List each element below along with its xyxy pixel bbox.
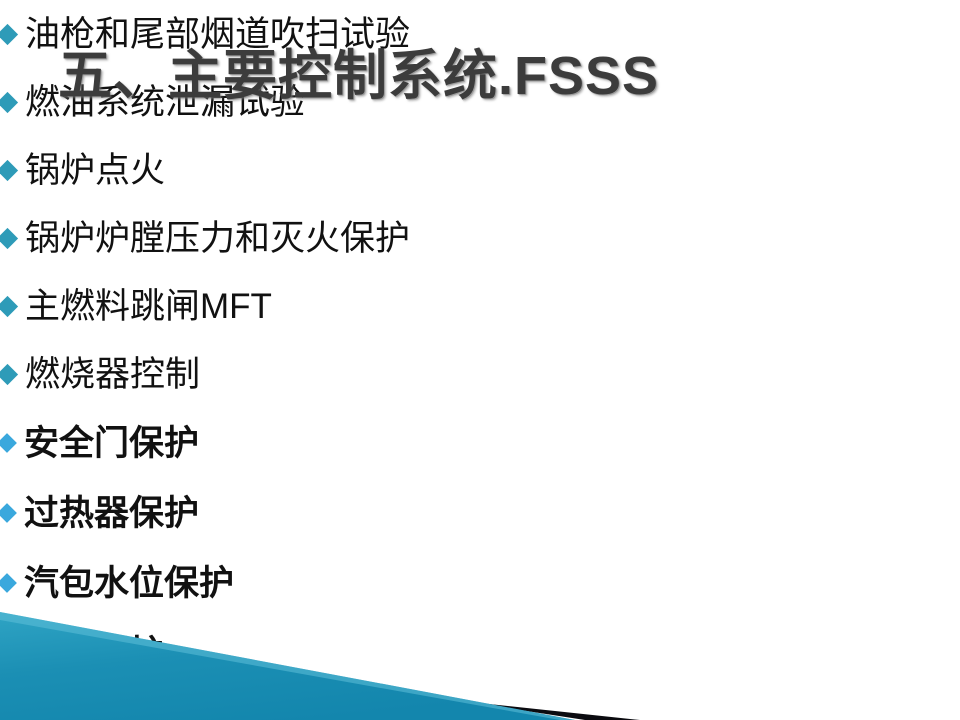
diamond-bullet-icon (0, 713, 17, 720)
diamond-bullet-icon (0, 159, 18, 180)
list-item: 锅炉炉膛压力和灭火保护 (0, 204, 460, 272)
page-title: 五、主要控制系统.FSSS (58, 48, 659, 105)
list-item: 锅炉点火 (0, 136, 460, 204)
list-item: 床温保护 (0, 618, 450, 688)
list-item-label: 主燃料跳闸MFT (25, 289, 272, 324)
list-item-label: 安全门保护 (24, 426, 199, 461)
diamond-bullet-icon (0, 643, 17, 663)
list-item: 主燃料跳闸MFT (0, 272, 460, 340)
diamond-bullet-icon (0, 503, 17, 523)
list-item-label: 燃烧器控制 (25, 357, 200, 392)
list-item-label: 燃油速断阀的控制 (24, 706, 304, 720)
list-item: 过热器保护 (0, 478, 450, 548)
list-item-label: 过热器保护 (24, 496, 199, 531)
diamond-bullet-icon (0, 363, 18, 384)
list-item: 燃烧器控制 (0, 340, 460, 408)
list-item-label: 锅炉点火 (25, 153, 165, 188)
list-item: 燃油速断阀的控制 (0, 688, 450, 720)
list-item: 汽包水位保护 (0, 548, 450, 618)
list-item: 安全门保护 (0, 408, 450, 478)
list-item-label: 锅炉炉膛压力和灭火保护 (25, 221, 410, 256)
bullet-list-right: 安全门保护 过热器保护 汽包水位保护 床温保护 燃油速断阀的控制 (0, 408, 450, 720)
diamond-bullet-icon (0, 91, 18, 112)
list-item-label: 床温保护 (24, 636, 164, 671)
list-item-label: 汽包水位保护 (24, 566, 234, 601)
diamond-bullet-icon (0, 227, 18, 248)
diamond-bullet-icon (0, 433, 17, 453)
diamond-bullet-icon (0, 295, 18, 316)
diamond-bullet-icon (0, 573, 17, 593)
presentation-slide: 五、主要控制系统.FSSS 油枪和尾部烟道吹扫试验 燃油系统泄漏试验 锅炉点火 … (0, 0, 960, 720)
diamond-bullet-icon (0, 23, 18, 44)
